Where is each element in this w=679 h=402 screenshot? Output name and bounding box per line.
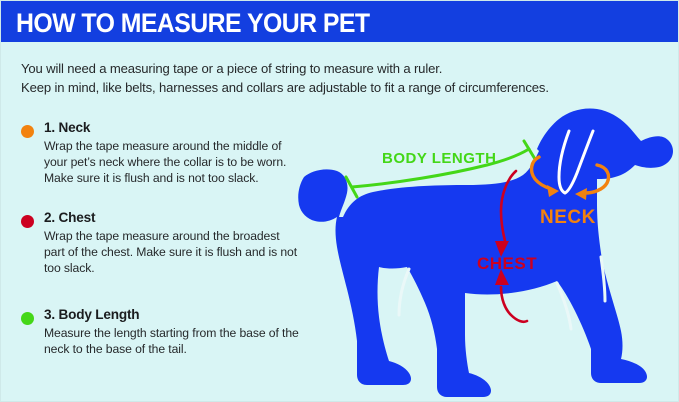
desc-line: Wrap the tape measure around the broades… <box>44 228 311 244</box>
list-item-neck: 1. Neck Wrap the tape measure around the… <box>21 119 311 187</box>
page-title: HOW TO MEASURE YOUR PET <box>16 8 370 38</box>
desc-line: your pet’s neck where the collar is to b… <box>44 154 311 170</box>
body-length-label: BODY LENGTH <box>382 150 496 167</box>
desc-line: Measure the length starting from the bas… <box>44 325 311 341</box>
infographic-page: HOW TO MEASURE YOUR PET You will need a … <box>0 0 679 402</box>
list-item-description: Measure the length starting from the bas… <box>44 325 311 357</box>
bullet-neck-icon <box>21 125 34 138</box>
list-item-chest: 2. Chest Wrap the tape measure around th… <box>21 209 311 277</box>
dog-hind-leg-line <box>399 269 409 315</box>
header-banner: HOW TO MEASURE YOUR PET <box>1 1 679 42</box>
bullet-chest-icon <box>21 215 34 228</box>
dog-measurement-diagram: BODY LENGTH NECK CHEST <box>297 105 679 402</box>
desc-line: neck to the base of the tail. <box>44 341 311 357</box>
bullet-body-length-icon <box>21 312 34 325</box>
list-item-body-length: 3. Body Length Measure the length starti… <box>21 306 311 357</box>
measurement-list: 1. Neck Wrap the tape measure around the… <box>21 119 311 367</box>
intro-line-2: Keep in mind, like belts, harnesses and … <box>21 78 666 97</box>
desc-line: Wrap the tape measure around the middle … <box>44 138 311 154</box>
neck-label: NECK <box>540 207 596 228</box>
chest-label: CHEST <box>477 254 537 273</box>
list-item-title: 2. Chest <box>44 209 311 227</box>
intro-line-1: You will need a measuring tape or a piec… <box>21 59 666 78</box>
list-item-title: 3. Body Length <box>44 306 311 324</box>
intro-paragraph: You will need a measuring tape or a piec… <box>21 59 666 97</box>
desc-line: part of the chest. Make sure it is flush… <box>44 244 311 260</box>
list-item-title: 1. Neck <box>44 119 311 137</box>
desc-line: Make sure it is flush and is not too sla… <box>44 170 311 186</box>
desc-line: too slack. <box>44 260 311 276</box>
list-item-description: Wrap the tape measure around the middle … <box>44 138 311 187</box>
list-item-description: Wrap the tape measure around the broades… <box>44 228 311 277</box>
